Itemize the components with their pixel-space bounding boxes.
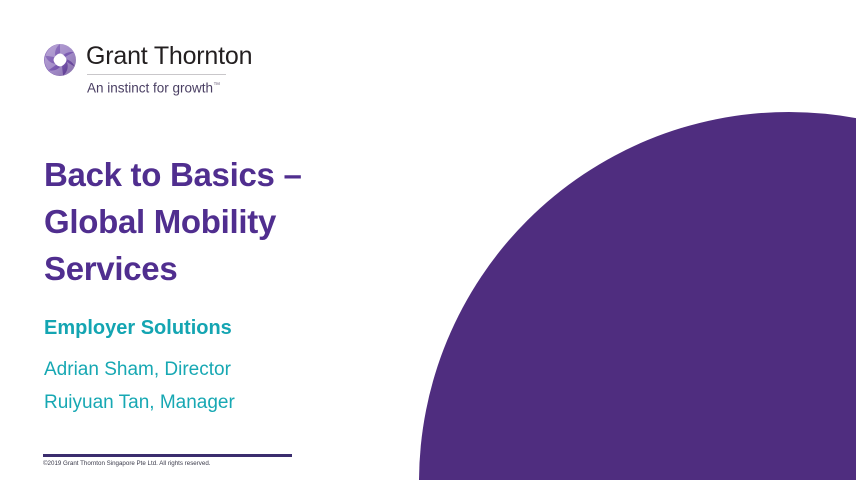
logo-wordmark: Grant Thornton — [86, 41, 252, 71]
logo-tagline: An instinct for growth™ — [87, 76, 220, 99]
title-slide: Grant Thornton An instinct for growth™ B… — [0, 0, 856, 480]
page-title-line-3: Services — [44, 245, 374, 292]
grant-thornton-logo: Grant Thornton An instinct for growth™ — [43, 41, 293, 97]
trademark-symbol: ™ — [213, 82, 220, 89]
copyright-notice: ©2019 Grant Thornton Singapore Pte Ltd. … — [43, 459, 210, 469]
page-title-line-2: Global Mobility — [44, 198, 374, 245]
presenter-list: Adrian Sham, Director Ruiyuan Tan, Manag… — [44, 353, 235, 419]
presenter-item: Ruiyuan Tan, Manager — [44, 386, 235, 419]
presenter-item: Adrian Sham, Director — [44, 353, 235, 386]
footer-divider — [43, 454, 292, 457]
page-title-line-1: Back to Basics – — [44, 151, 374, 198]
page-title: Back to Basics – Global Mobility Service… — [44, 151, 374, 292]
subtitle-service-line: Employer Solutions — [44, 315, 232, 341]
logo-tagline-text: An instinct for growth — [87, 81, 213, 96]
logo-divider — [87, 74, 226, 75]
grant-thornton-swirl-icon — [43, 43, 77, 77]
decorative-purple-circle — [419, 112, 856, 480]
